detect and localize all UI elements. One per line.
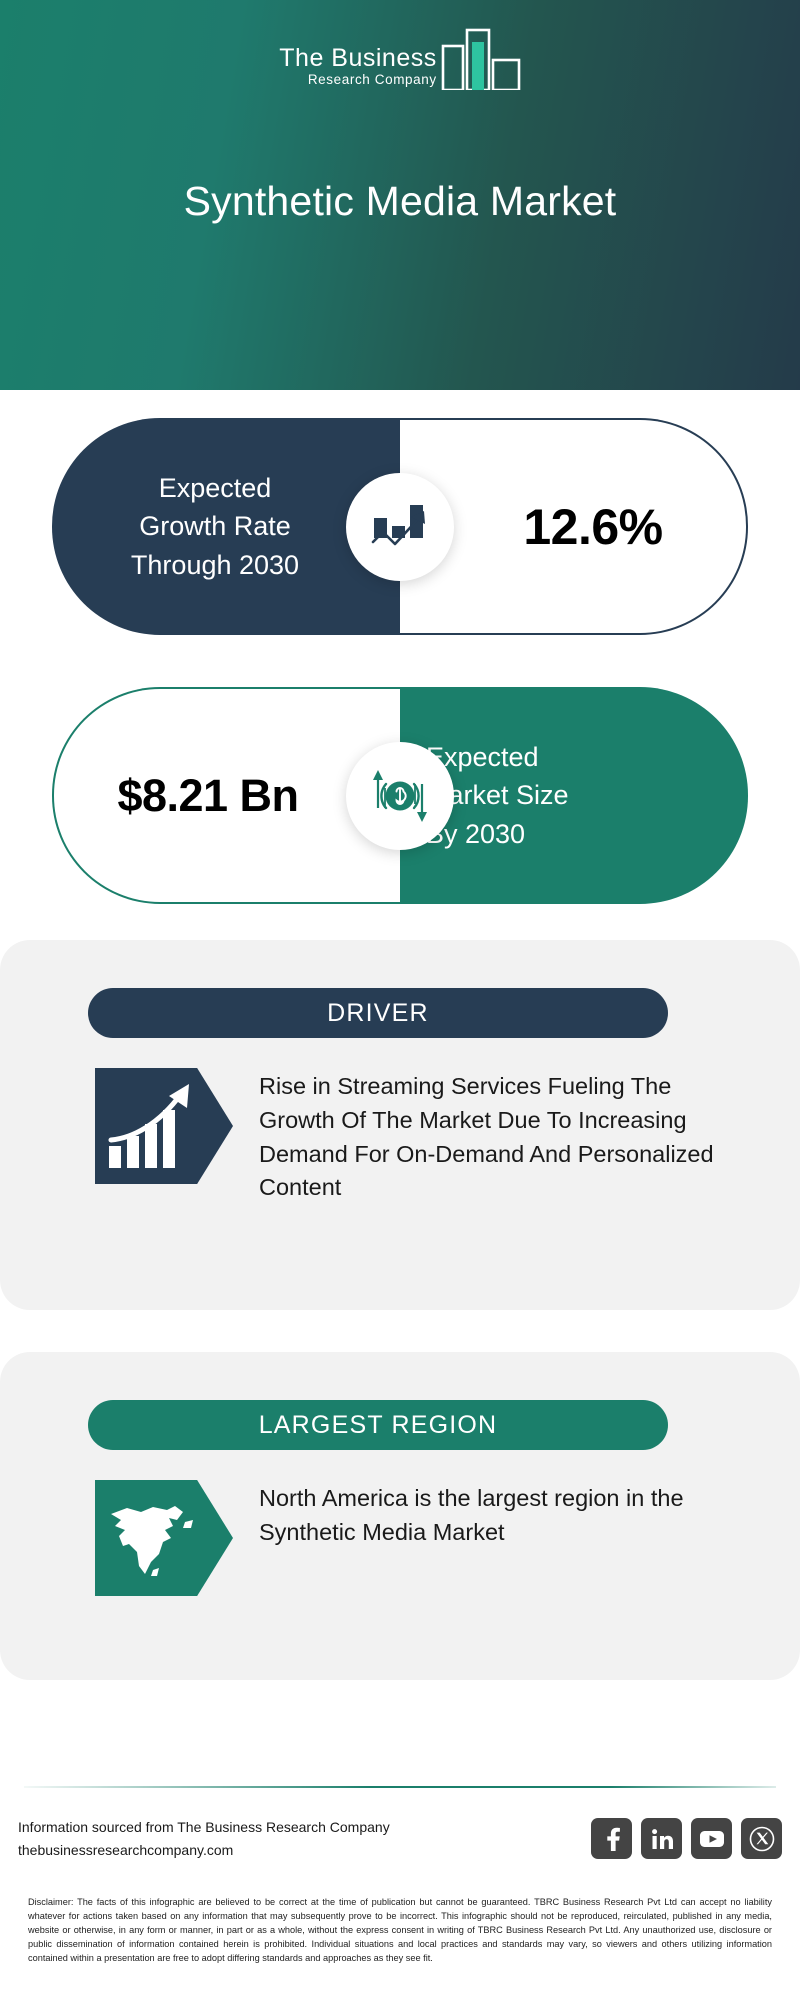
youtube-glyph: [699, 1829, 725, 1849]
page-title: Synthetic Media Market: [0, 178, 800, 225]
driver-panel: DRIVER Rise in Streaming Services Fuelin…: [0, 940, 800, 1310]
linkedin-icon[interactable]: [641, 1818, 682, 1859]
growth-label-line-2: Growth Rate: [139, 511, 291, 541]
footer-divider: [24, 1786, 776, 1788]
largest-region-body: North America is the largest region in t…: [95, 1480, 740, 1596]
driver-description: Rise in Streaming Services Fueling The G…: [259, 1068, 740, 1205]
linkedin-glyph: [650, 1827, 674, 1851]
driver-body: Rise in Streaming Services Fueling The G…: [95, 1068, 740, 1205]
infographic-page: The Business Research Company Synthetic …: [0, 0, 800, 2000]
logo-line-2: Research Company: [308, 73, 437, 87]
growth-label-line-1: Expected: [159, 473, 272, 503]
stat-card-growth-rate-label: Expected Growth Rate Through 2030: [131, 469, 321, 584]
logo-line-1: The Business: [279, 46, 436, 71]
largest-region-pill-label: LARGEST REGION: [259, 1411, 498, 1440]
region-icon-wrap: [95, 1480, 233, 1596]
footer-source-line-2[interactable]: thebusinessresearchcompany.com: [18, 1842, 233, 1858]
market-size-value: $8.21 Bn: [117, 770, 336, 822]
disclaimer-text: Disclaimer: The facts of this infographi…: [0, 1896, 800, 1966]
driver-icon-wrap: [95, 1068, 233, 1184]
growth-bars-arrow-glyph: [103, 1076, 205, 1176]
growth-label-line-3: Through 2030: [131, 550, 299, 580]
footer: Information sourced from The Business Re…: [0, 1806, 800, 1886]
x-glyph: [749, 1826, 775, 1852]
facebook-glyph: [601, 1827, 623, 1851]
stat-card-growth-rate: Expected Growth Rate Through 2030 12.6%: [52, 418, 748, 635]
largest-region-pill: LARGEST REGION: [88, 1400, 668, 1450]
growth-chart-arrow-icon: [369, 498, 431, 556]
north-america-map-glyph: [101, 1488, 205, 1588]
dollar-cycle-icon: [367, 764, 433, 828]
growth-rate-value: 12.6%: [483, 498, 662, 556]
header-banner: The Business Research Company Synthetic …: [0, 0, 800, 390]
company-logo: The Business Research Company: [0, 28, 800, 90]
footer-source-line-1: Information sourced from The Business Re…: [18, 1819, 390, 1835]
footer-source: Information sourced from The Business Re…: [18, 1816, 390, 1861]
x-twitter-icon[interactable]: [741, 1818, 782, 1859]
dollar-cycle-badge: [346, 742, 454, 850]
social-links: [591, 1816, 782, 1859]
growth-bar-arrow-icon: [95, 1068, 233, 1184]
largest-region-description: North America is the largest region in t…: [259, 1480, 740, 1550]
growth-chart-arrow-badge: [346, 473, 454, 581]
driver-pill: DRIVER: [88, 988, 668, 1038]
driver-pill-label: DRIVER: [327, 999, 429, 1028]
bar-chart-logo-icon: [441, 28, 521, 90]
stat-card-market-size: $8.21 Bn Expected Market Size By 2030: [52, 687, 748, 904]
largest-region-panel: LARGEST REGION North America is the larg…: [0, 1352, 800, 1680]
north-america-map-icon: [95, 1480, 233, 1596]
logo-text-block: The Business Research Company: [279, 46, 436, 91]
youtube-icon[interactable]: [691, 1818, 732, 1859]
facebook-icon[interactable]: [591, 1818, 632, 1859]
